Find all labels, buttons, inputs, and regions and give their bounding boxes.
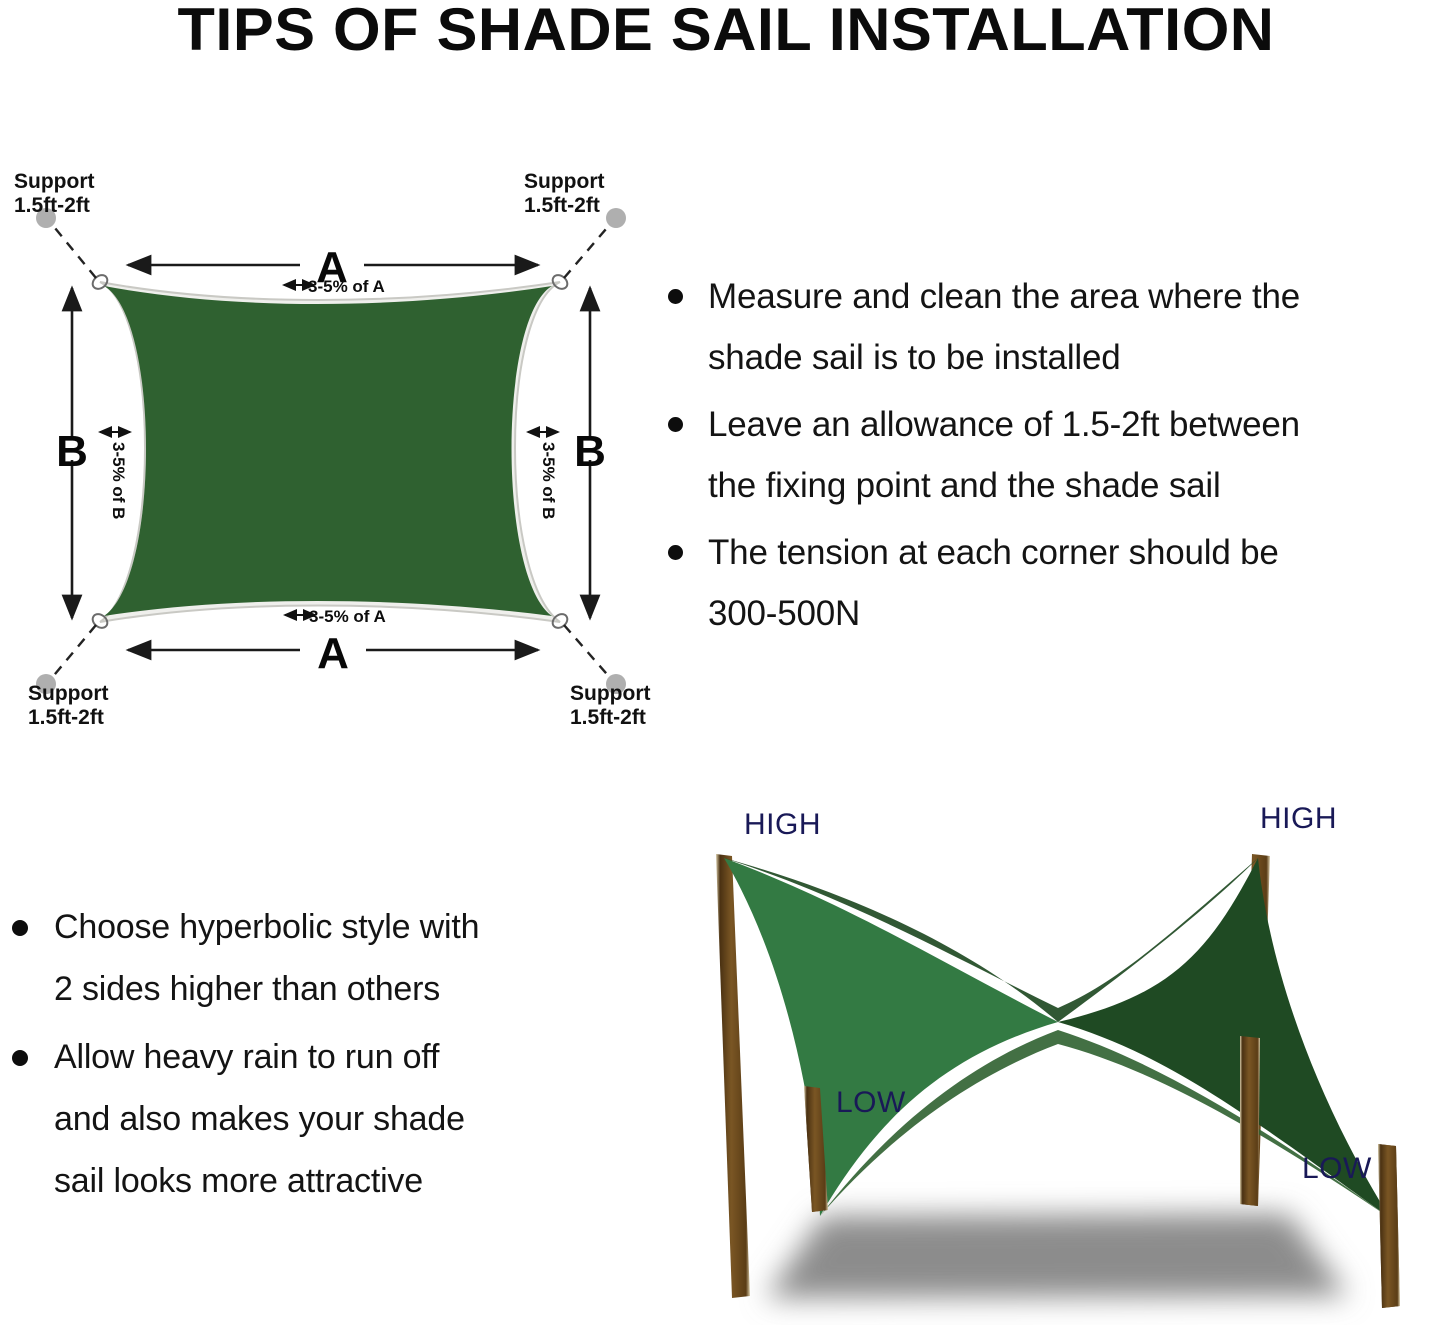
hyperbolic-tips-list: Choose hyperbolic style with 2 sides hig…: [2, 896, 642, 1218]
tip-line: and also makes your shade: [54, 1100, 465, 1138]
support-label-bottom-right-line1: Support: [570, 682, 650, 705]
support-label-bottom-left-line2: 1.5ft-2ft: [28, 706, 104, 729]
tip-line: shade sail is to be installed: [708, 338, 1121, 377]
label-low-right: LOW: [1302, 1152, 1372, 1185]
support-label-top-left-line2: 1.5ft-2ft: [14, 194, 90, 217]
support-label-top-right-line1: Support: [524, 170, 604, 193]
page-title: TIPS OF SHADE SAIL INSTALLATION: [0, 0, 1452, 62]
hyperbolic-sail-panel-left: [724, 858, 1058, 1216]
tip-line: Measure and clean the area where the: [708, 277, 1300, 316]
installation-tips-list: Measure and clean the area where the sha…: [652, 266, 1452, 650]
sail-body: [104, 286, 552, 616]
support-label-top-right-line2: 1.5ft-2ft: [524, 194, 600, 217]
hyperbolic-sail-diagram: HIGH HIGH LOW LOW: [648, 786, 1452, 1325]
tip-item-tension: The tension at each corner should be 300…: [652, 522, 1452, 644]
dimension-left-curve: 3-5% of B: [100, 432, 130, 519]
pole-high-right-front: [1240, 1036, 1260, 1206]
tip-item-hyperbolic-style: Choose hyperbolic style with 2 sides hig…: [2, 896, 642, 1020]
tip-line: 300-500N: [708, 594, 860, 633]
support-line-bottom-right: [564, 625, 612, 680]
dimension-curve-top-label: 3-5% of A: [308, 277, 385, 296]
support-label-bottom-right-line2: 1.5ft-2ft: [570, 706, 646, 729]
dimension-letter-B-left: B: [56, 427, 88, 476]
rectangular-sail-diagram: Support 1.5ft-2ft Support 1.5ft-2ft Supp…: [0, 160, 660, 740]
dimension-left-B: B: [56, 288, 88, 618]
tip-line: Leave an allowance of 1.5-2ft between: [708, 405, 1300, 444]
tips-right-ul: Measure and clean the area where the sha…: [652, 266, 1452, 644]
tip-item-measure: Measure and clean the area where the sha…: [652, 266, 1452, 388]
label-low-left: LOW: [836, 1086, 906, 1119]
ground-shadow: [766, 1214, 1348, 1298]
support-line-bottom-left: [50, 625, 96, 680]
dimension-curve-left-label: 3-5% of B: [109, 442, 128, 519]
support-label-top-left-line1: Support: [14, 170, 94, 193]
support-line-top-right: [564, 222, 612, 278]
pole-low-right-front: [1378, 1144, 1400, 1308]
dimension-letter-B-right: B: [574, 427, 606, 476]
pole-high-left: [716, 854, 750, 1298]
bullet-dot-icon: [12, 920, 28, 936]
support-label-top-right: Support 1.5ft-2ft: [524, 170, 604, 217]
infographic-page: TIPS OF SHADE SAIL INSTALLATION: [0, 0, 1452, 1325]
tips-bottom-ul: Choose hyperbolic style with 2 sides hig…: [2, 896, 642, 1212]
dimension-curve-bottom-label: 3-5% of A: [309, 607, 386, 626]
support-label-bottom-left: Support 1.5ft-2ft: [28, 682, 108, 729]
tip-line: sail looks more attractive: [54, 1162, 423, 1200]
bullet-dot-icon: [12, 1050, 28, 1066]
support-label-top-left: Support 1.5ft-2ft: [14, 170, 94, 217]
tip-line: The tension at each corner should be: [708, 533, 1279, 572]
tip-line: Choose hyperbolic style with: [54, 908, 479, 946]
support-line-top-left: [50, 222, 96, 278]
dimension-right-B: B: [574, 288, 606, 618]
bullet-dot-icon: [668, 545, 683, 560]
support-label-bottom-left-line1: Support: [28, 682, 108, 705]
tip-line: the fixing point and the shade sail: [708, 466, 1221, 505]
dimension-top-curve: 3-5% of A: [284, 277, 385, 296]
label-high-right: HIGH: [1260, 802, 1337, 835]
support-dot-top-right: [606, 208, 626, 228]
dimension-right-curve: 3-5% of B: [528, 432, 558, 519]
tip-line: 2 sides higher than others: [54, 970, 440, 1008]
dimension-bottom-A: A: [128, 629, 538, 678]
dimension-bottom-curve: 3-5% of A: [285, 607, 386, 626]
dimension-curve-right-label: 3-5% of B: [539, 442, 558, 519]
label-high-left: HIGH: [744, 808, 821, 841]
tip-line: Allow heavy rain to run off: [54, 1038, 439, 1076]
tip-item-allowance: Leave an allowance of 1.5-2ft between th…: [652, 394, 1452, 516]
support-label-bottom-right: Support 1.5ft-2ft: [570, 682, 650, 729]
dimension-letter-A-bottom: A: [317, 629, 349, 678]
tip-item-rain-runoff: Allow heavy rain to run off and also mak…: [2, 1026, 642, 1212]
bullet-dot-icon: [668, 417, 683, 432]
bullet-dot-icon: [668, 289, 683, 304]
